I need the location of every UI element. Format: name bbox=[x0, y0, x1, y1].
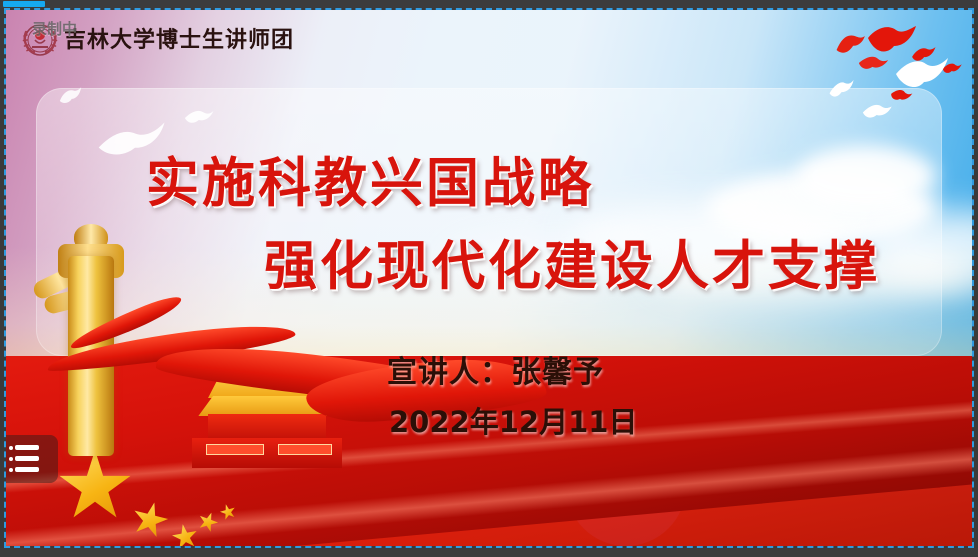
slide-canvas: 录制中 吉林大学博士生讲师团 实施科教兴国战略 强化现代化建设人才支撑 宣讲人：… bbox=[6, 10, 972, 546]
dove-white-icon bbox=[861, 100, 893, 123]
player-bottom-bar[interactable] bbox=[0, 548, 978, 557]
dove-white-icon bbox=[183, 107, 214, 127]
speaker-label: 宣讲人：张馨予 bbox=[387, 347, 604, 391]
progress-bar-fill[interactable] bbox=[3, 1, 45, 7]
playlist-list-icon[interactable] bbox=[6, 435, 58, 483]
slide-title-line-2: 强化现代化建设人才支撑 bbox=[264, 224, 880, 300]
content-panel bbox=[36, 88, 942, 356]
player-top-bar[interactable] bbox=[0, 0, 978, 8]
slide-header: 录制中 吉林大学博士生讲师团 bbox=[6, 10, 972, 72]
presentation-date: 2022年12月11日 bbox=[389, 399, 637, 441]
organization-title: 吉林大学博士生讲师团 bbox=[64, 22, 294, 54]
recording-badge: 录制中 bbox=[32, 18, 77, 39]
slide-title-line-1: 实施科教兴国战略 bbox=[146, 141, 594, 217]
video-player[interactable]: 录制中 吉林大学博士生讲师团 实施科教兴国战略 强化现代化建设人才支撑 宣讲人：… bbox=[0, 0, 978, 557]
